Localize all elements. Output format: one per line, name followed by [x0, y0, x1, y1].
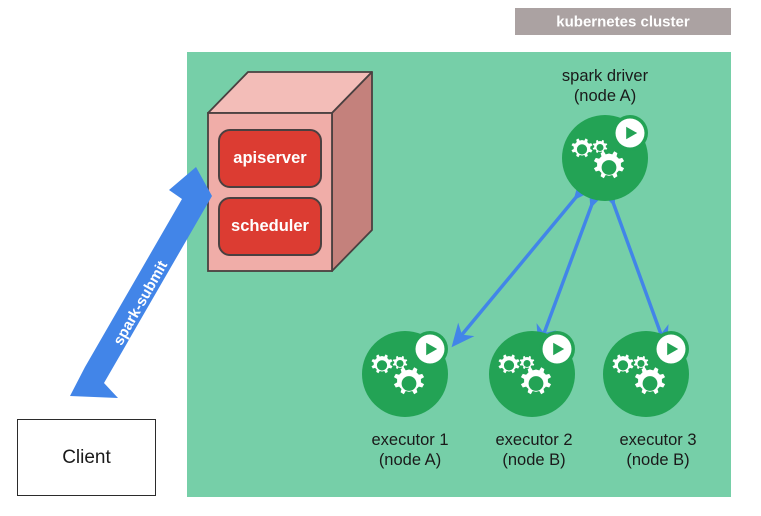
- spark-driver-title: spark driver: [525, 66, 685, 86]
- executor-3-subtitle: (node B): [578, 450, 738, 470]
- executor-3-title: executor 3: [578, 430, 738, 450]
- scheduler-label: scheduler: [219, 217, 321, 236]
- apiserver-label: apiserver: [219, 149, 321, 168]
- executor-1-icon[interactable]: [362, 331, 448, 417]
- diagram-canvas: kubernetes cluster apiserver scheduler s…: [0, 0, 761, 516]
- kubernetes-cluster-label: kubernetes cluster: [515, 8, 731, 35]
- client-box[interactable]: Client: [17, 419, 156, 496]
- kubernetes-cluster-label-text: kubernetes cluster: [515, 13, 731, 30]
- spark-driver-icon[interactable]: [562, 115, 648, 201]
- spark-driver-subtitle: (node A): [525, 86, 685, 106]
- executor-3-icon[interactable]: [603, 331, 689, 417]
- executor-2-icon[interactable]: [489, 331, 575, 417]
- client-label: Client: [18, 447, 155, 469]
